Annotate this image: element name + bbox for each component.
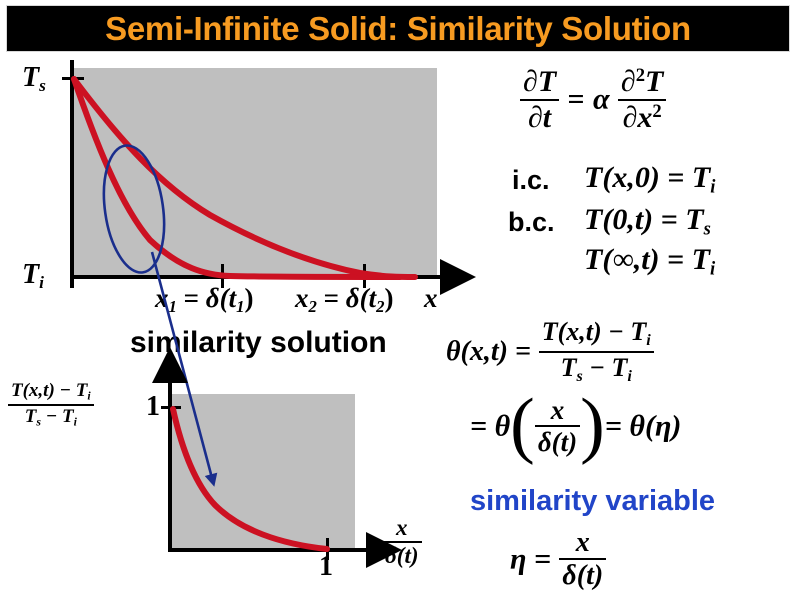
bottom-chart-yaxis-num-sub: i — [87, 390, 90, 403]
xtick1-fn: δ(t — [206, 283, 236, 313]
xtick2-var: x — [295, 283, 309, 313]
equation-boundary-condition-2: T(∞,t) = Ti — [584, 245, 715, 279]
bottom-chart-ytick-label-text: 1 — [146, 391, 160, 422]
pde-lhs-den: ∂t — [520, 99, 559, 134]
eta-numerator: x — [559, 528, 606, 558]
similarity-variable-label: similarity variable — [470, 487, 715, 516]
bottom-chart-x-axis — [168, 548, 368, 552]
bc2-subscript: i — [710, 259, 715, 280]
top-chart-ylabel-ts-text: T — [22, 62, 39, 93]
pde-lhs-fraction: ∂T ∂t — [520, 66, 559, 133]
top-chart-xaxis-label: x — [424, 285, 438, 312]
similarity-solution-label-text: similarity solution — [130, 326, 387, 359]
top-chart-ylabel-ti-text: T — [22, 259, 39, 290]
pde-equals: = — [568, 83, 585, 116]
bc1-expression: T(0,t) = T — [584, 203, 704, 236]
xtick1-var: x — [155, 283, 169, 313]
xtick2-var-sub: 2 — [309, 297, 317, 316]
pde-rhs-den-sup: 2 — [652, 101, 661, 122]
theta-den-T: T — [561, 353, 577, 382]
bottom-chart-yaxis-num-text: T(x,t) − T — [11, 380, 87, 401]
xtick2-eq: = — [324, 283, 339, 313]
theta-num-text: T(x,t) − T — [542, 317, 647, 346]
equation-boundary-condition-1: T(0,t) = Ts — [584, 205, 711, 239]
top-chart-ylabel-ts: Ts — [22, 64, 46, 95]
theta-def-numerator: T(x,t) − Ti — [539, 318, 654, 351]
top-chart-xaxis-label-text: x — [424, 283, 438, 313]
bottom-chart-yaxis-numerator: T(x,t) − Ti — [8, 381, 94, 404]
xtick2-fn: δ(t — [346, 283, 376, 313]
initial-condition-label-text: i.c. — [512, 165, 550, 195]
bottom-chart-yaxis-den-mid: − T — [41, 406, 74, 427]
top-chart-ylabel-ti-sub: i — [39, 273, 44, 292]
bottom-chart-xaxis-numerator: x — [382, 516, 422, 541]
boundary-condition-label: b.c. — [508, 209, 555, 236]
ic-expression: T(x,0) = T — [584, 161, 710, 194]
bottom-chart-xtick-label: 1 — [319, 553, 333, 581]
pde-rhs-num-partial: ∂ — [621, 65, 636, 98]
bc2-expression: T(∞,t) = T — [584, 243, 710, 276]
bottom-chart-yaxis-label: T(x,t) − Ti Ts − Ti — [8, 381, 94, 429]
bottom-chart-plot-area — [172, 394, 355, 551]
pde-alpha: α — [593, 83, 610, 116]
top-chart-ylabel-ti: Ti — [22, 261, 44, 292]
initial-condition-label: i.c. — [512, 167, 550, 194]
eta-lhs: η = — [510, 542, 551, 575]
theta-def-denominator: Ts − Ti — [539, 351, 654, 386]
similarity-solution-label: similarity solution — [130, 328, 387, 358]
slide-title-bar: Semi-Infinite Solid: Similarity Solution — [6, 5, 790, 52]
eta-fraction: x δ(t) — [559, 528, 606, 591]
top-chart-xtick-label-2: x2 = δ(t2) — [295, 285, 393, 316]
xtick1-fn-close: ) — [244, 283, 253, 313]
bottom-chart-xaxis-label: x δ(t) — [382, 516, 422, 568]
pde-rhs-num-T: T — [645, 65, 663, 98]
theta-def-fraction: T(x,t) − Ti Ts − Ti — [539, 318, 654, 386]
top-chart-ylabel-ts-sub: s — [39, 76, 46, 95]
ic-subscript: i — [710, 177, 715, 198]
bottom-chart-xaxis-denominator: δ(t) — [382, 541, 422, 568]
bottom-chart-xaxis-fraction: x δ(t) — [382, 516, 422, 568]
equation-theta-definition: θ(x,t) = T(x,t) − Ti Ts − Ti — [446, 318, 654, 386]
theta-eta-tail: = θ(η) — [605, 409, 682, 442]
bottom-chart-y-tick-1 — [161, 406, 181, 409]
bottom-chart-yaxis-denominator: Ts − Ti — [8, 404, 94, 429]
xtick1-var-sub: 1 — [169, 297, 177, 316]
top-chart-plot-area — [74, 68, 437, 277]
pde-rhs-den: ∂x2 — [618, 99, 666, 134]
bottom-chart-yaxis-den-sub2: i — [74, 415, 77, 428]
theta-arg-numerator: x — [535, 396, 580, 425]
theta-num-sub: i — [646, 332, 650, 349]
boundary-condition-label-text: b.c. — [508, 207, 555, 237]
pde-rhs-num: ∂2T — [618, 66, 666, 99]
pde-rhs-fraction: ∂2T ∂x2 — [618, 66, 666, 133]
slide-canvas: Semi-Infinite Solid: Similarity Solution… — [0, 0, 800, 600]
theta-den-mid: − T — [583, 353, 628, 382]
bottom-chart-ytick-label: 1 — [146, 393, 160, 421]
pde-rhs-den-text: ∂x — [623, 101, 653, 134]
bottom-chart-yaxis-den-T: T — [25, 406, 37, 427]
pde-lhs-num: ∂T — [520, 66, 559, 99]
theta-eta-eq: = θ — [470, 409, 510, 442]
bc1-subscript: s — [704, 219, 711, 240]
left-paren: ( — [510, 403, 535, 449]
top-chart-xtick-label-1: x1 = δ(t1) — [155, 285, 253, 316]
xtick1-eq: = — [184, 283, 199, 313]
theta-arg-denominator: δ(t) — [535, 425, 580, 456]
bottom-chart-yaxis-fraction: T(x,t) − Ti Ts − Ti — [8, 381, 94, 429]
similarity-variable-label-text: similarity variable — [470, 485, 715, 517]
right-paren: ) — [580, 403, 605, 449]
xtick2-fn-close: ) — [384, 283, 393, 313]
theta-den-sub2: i — [627, 368, 631, 385]
top-chart-x-axis — [70, 275, 440, 279]
equation-pde: ∂T ∂t = α ∂2T ∂x2 — [520, 66, 666, 133]
equation-theta-eta: = θ( x δ(t) )= θ(η) — [470, 396, 681, 457]
pde-rhs-num-sup: 2 — [636, 65, 645, 86]
top-chart-y-axis — [70, 60, 74, 288]
page-title: Semi-Infinite Solid: Similarity Solution — [105, 12, 691, 45]
equation-initial-condition: T(x,0) = Ti — [584, 163, 715, 197]
bottom-chart-xtick-label-text: 1 — [319, 551, 333, 582]
theta-arg-fraction: x δ(t) — [535, 396, 580, 457]
eta-denominator: δ(t) — [559, 558, 606, 590]
top-chart-y-tick-ts — [62, 77, 84, 80]
equation-eta: η = x δ(t) — [510, 528, 606, 591]
theta-def-lhs: θ(x,t) = — [446, 336, 531, 367]
